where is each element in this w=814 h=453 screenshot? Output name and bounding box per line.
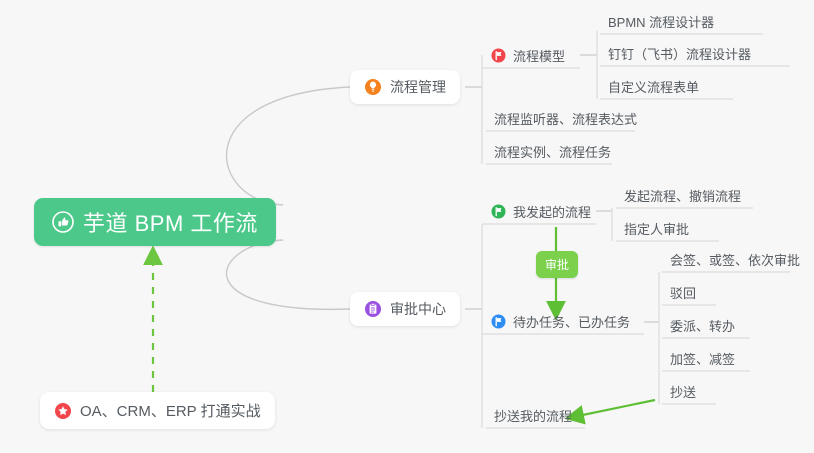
connector-root-to-process-management	[227, 87, 350, 205]
branch-label-approval-center: 审批中心	[390, 299, 446, 319]
lightbulb-icon	[364, 78, 382, 96]
leaf-dingtalk-designer[interactable]: 钉钉（飞书）流程设计器	[600, 40, 761, 66]
bottom-node-label: OA、CRM、ERP 打通实战	[80, 400, 261, 421]
flag-icon	[491, 204, 506, 219]
leaf-add-remove-sign[interactable]: 加签、减签	[662, 345, 745, 371]
branch-card-approval-center[interactable]: 审批中心	[350, 292, 460, 326]
subnode-label-process-model: 流程模型	[513, 46, 565, 65]
subnode-todo-done-tasks[interactable]: 待办任务、已办任务	[487, 308, 636, 334]
thumbs-up-icon	[52, 211, 74, 233]
subnode-label-todo-done-tasks: 待办任务、已办任务	[513, 312, 630, 331]
leaf-bpmn-designer[interactable]: BPMN 流程设计器	[600, 8, 724, 34]
leaf-delegate-transfer[interactable]: 委派、转办	[662, 312, 745, 338]
root-node[interactable]: 芋道 BPM 工作流	[34, 198, 276, 246]
bottom-node-integration[interactable]: OA、CRM、ERP 打通实战	[40, 392, 275, 429]
subnode-my-initiated[interactable]: 我发起的流程	[487, 198, 597, 224]
leaf-custom-form[interactable]: 自定义流程表单	[600, 73, 709, 99]
arrow-cc-to-cc-my-process	[573, 400, 655, 417]
leaf-reject[interactable]: 驳回	[662, 279, 706, 305]
leaf-cc-my-process[interactable]: 抄送我的流程	[486, 402, 582, 428]
leaf-cc[interactable]: 抄送	[662, 378, 706, 404]
leaf-start-cancel-process[interactable]: 发起流程、撤销流程	[616, 182, 751, 208]
clipboard-icon	[364, 300, 382, 318]
mindmap-canvas: 芋道 BPM 工作流 流程管理 流程模型 BPMN 流程设计器 钉钉（飞书）流程…	[0, 0, 814, 453]
badge-approval: 审批	[536, 251, 578, 278]
branch-card-process-management[interactable]: 流程管理	[350, 70, 460, 104]
flag-icon	[491, 314, 506, 329]
subnode-label-my-initiated: 我发起的流程	[513, 202, 591, 221]
leaf-countersign[interactable]: 会签、或签、依次审批	[662, 246, 810, 272]
root-label: 芋道 BPM 工作流	[83, 206, 258, 238]
branch-label-process-management: 流程管理	[390, 77, 446, 97]
flag-icon	[491, 48, 506, 63]
subnode-process-model[interactable]: 流程模型	[487, 42, 571, 68]
leaf-process-instance[interactable]: 流程实例、流程任务	[486, 138, 621, 164]
connector-root-to-approval-center	[227, 240, 350, 309]
star-icon	[54, 402, 72, 420]
leaf-assignee-approval[interactable]: 指定人审批	[616, 215, 699, 241]
leaf-process-listener[interactable]: 流程监听器、流程表达式	[486, 105, 647, 131]
